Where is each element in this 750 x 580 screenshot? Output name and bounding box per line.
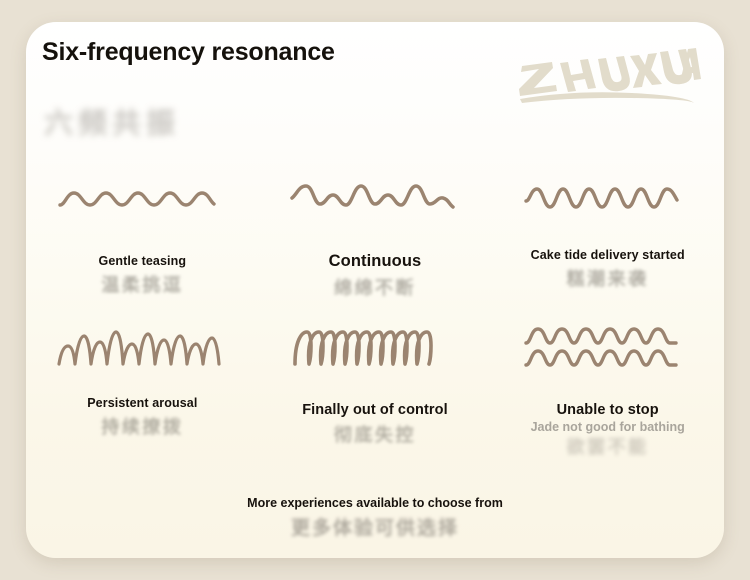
modulated-sine-wave-icon [269, 168, 482, 230]
card-header: Six-frequency resonance 六频共振 [26, 22, 724, 182]
medium-frequency-sine-wave-icon [501, 168, 714, 230]
page-title-cn: 六频共振 [44, 100, 344, 142]
mode-label: Finally out of control [269, 402, 482, 419]
mode-cell-persistent-arousal[interactable]: Persistent arousal 持续撩拨 [26, 318, 259, 468]
resonance-mode-grid: Gentle teasing 温柔挑逗 Continuous 绵绵不断 [26, 168, 724, 468]
mode-cell-gentle-teasing[interactable]: Gentle teasing 温柔挑逗 [26, 168, 259, 318]
card-footer: More experiences available to choose fro… [26, 496, 724, 540]
mode-cell-out-of-control[interactable]: Finally out of control 彻底失控 [259, 318, 492, 468]
mode-labels: Continuous 绵绵不断 [269, 252, 482, 300]
coil-zigzag-wave-icon [269, 318, 482, 380]
low-frequency-sine-wave-icon [36, 168, 249, 230]
mode-label-cn: 欲罢不能 [501, 433, 714, 459]
mode-label-cn: 温柔挑逗 [36, 271, 249, 297]
footer-text-cn: 更多体验可供选择 [26, 513, 724, 540]
brand-logo [512, 46, 702, 108]
mode-label: Continuous [269, 252, 482, 272]
page-title: Six-frequency resonance [42, 36, 372, 69]
mode-labels: Persistent arousal 持续撩拨 [36, 396, 249, 439]
mode-label-cn: 彻底失控 [269, 421, 482, 447]
mode-labels: Gentle teasing 温柔挑逗 [36, 254, 249, 297]
mode-cell-continuous[interactable]: Continuous 绵绵不断 [259, 168, 492, 318]
mode-labels: Unable to stop Jade not good for bathing… [501, 402, 714, 459]
mode-label-cn: 持续撩拨 [36, 413, 249, 439]
mode-cell-cake-tide[interactable]: Cake tide delivery started 糕潮来袭 [491, 168, 724, 318]
mode-label: Unable to stop [501, 402, 714, 419]
mode-labels: Finally out of control 彻底失控 [269, 402, 482, 447]
product-feature-card: Six-frequency resonance 六频共振 [26, 22, 724, 558]
footer-text: More experiences available to choose fro… [245, 496, 505, 512]
double-square-sine-wave-icon [501, 318, 714, 380]
spiky-pulse-wave-icon [36, 318, 249, 380]
mode-label: Persistent arousal [36, 396, 249, 411]
mode-label-cn: 绵绵不断 [269, 274, 482, 300]
mode-labels: Cake tide delivery started 糕潮来袭 [501, 248, 714, 291]
mode-label: Cake tide delivery started [501, 248, 714, 263]
mode-cell-unable-to-stop[interactable]: Unable to stop Jade not good for bathing… [491, 318, 724, 468]
mode-label-cn: 糕潮来袭 [501, 265, 714, 291]
mode-label: Gentle teasing [36, 254, 249, 269]
